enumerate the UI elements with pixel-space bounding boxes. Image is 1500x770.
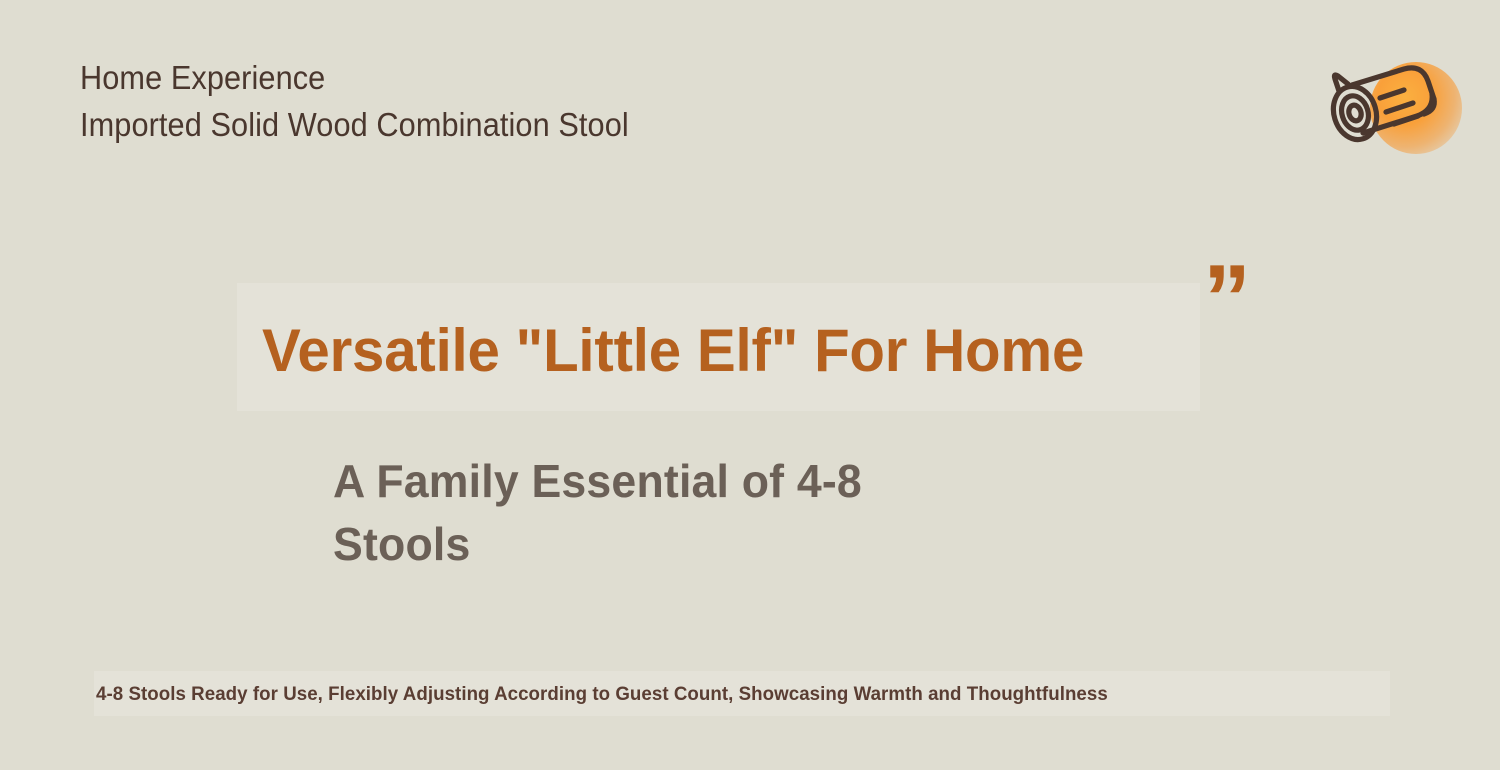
- hero-subtitle-line2: Stools: [333, 513, 1012, 576]
- quote-mark-icon: ”: [1203, 251, 1249, 347]
- brand-mark: [1318, 52, 1458, 160]
- hero-headline: Versatile "Little Elf" For Home: [262, 313, 1084, 389]
- hero-subtitle: A Family Essential of 4-8 Stools: [333, 450, 1012, 576]
- hero-subtitle-line1: A Family Essential of 4-8: [333, 450, 1012, 513]
- slide-canvas: Home Experience Imported Solid Wood Comb…: [0, 0, 1500, 770]
- header-block: Home Experience Imported Solid Wood Comb…: [80, 54, 980, 148]
- footer-caption: 4-8 Stools Ready for Use, Flexibly Adjus…: [96, 682, 1377, 707]
- header-line-category: Home Experience: [80, 54, 917, 101]
- header-line-product: Imported Solid Wood Combination Stool: [80, 101, 917, 148]
- wood-log-icon: [1318, 52, 1458, 160]
